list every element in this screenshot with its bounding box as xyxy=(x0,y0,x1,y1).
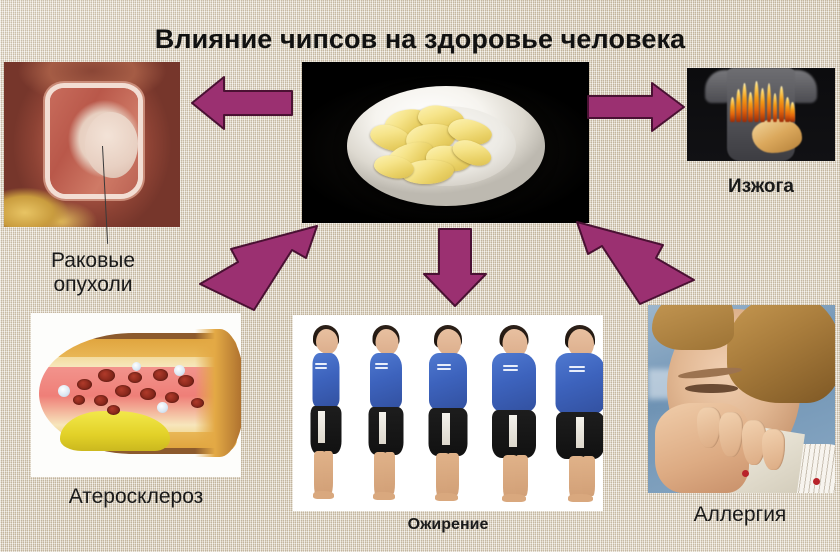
boy-figure xyxy=(481,323,547,503)
label-obesity: Ожирение xyxy=(348,516,548,534)
arrow-to-allergy xyxy=(570,218,698,308)
cancer-image xyxy=(4,62,180,227)
arrow-to-atherosclerosis xyxy=(196,222,320,314)
allergy-image xyxy=(648,305,835,493)
boy-figure xyxy=(357,323,415,503)
boy-figure xyxy=(417,323,479,503)
atherosclerosis-image xyxy=(31,313,241,477)
boy-figure xyxy=(545,323,603,503)
label-cancer: Раковые опухоли xyxy=(0,249,186,296)
chips-image xyxy=(302,62,589,223)
arrow-to-obesity xyxy=(420,226,490,308)
slide-canvas: Влияние чипсов на здоровье человека xyxy=(0,0,840,552)
label-heartburn: Изжога xyxy=(687,176,835,197)
label-allergy: Аллергия xyxy=(640,503,840,527)
flames-group xyxy=(728,81,796,122)
boy-figure xyxy=(299,323,353,503)
page-title: Влияние чипсов на здоровье человека xyxy=(0,24,840,55)
woman-hair xyxy=(727,305,835,403)
arrow-to-cancer xyxy=(190,74,294,132)
obesity-image xyxy=(293,315,603,511)
woman-hair-front xyxy=(652,305,734,350)
tumor-mass xyxy=(85,112,138,178)
artery-cap xyxy=(195,329,241,457)
stomach-shape xyxy=(752,119,802,152)
heartburn-image xyxy=(687,68,835,161)
arrow-to-heartburn xyxy=(586,80,686,134)
label-atherosclerosis: Атеросклероз xyxy=(10,485,262,509)
